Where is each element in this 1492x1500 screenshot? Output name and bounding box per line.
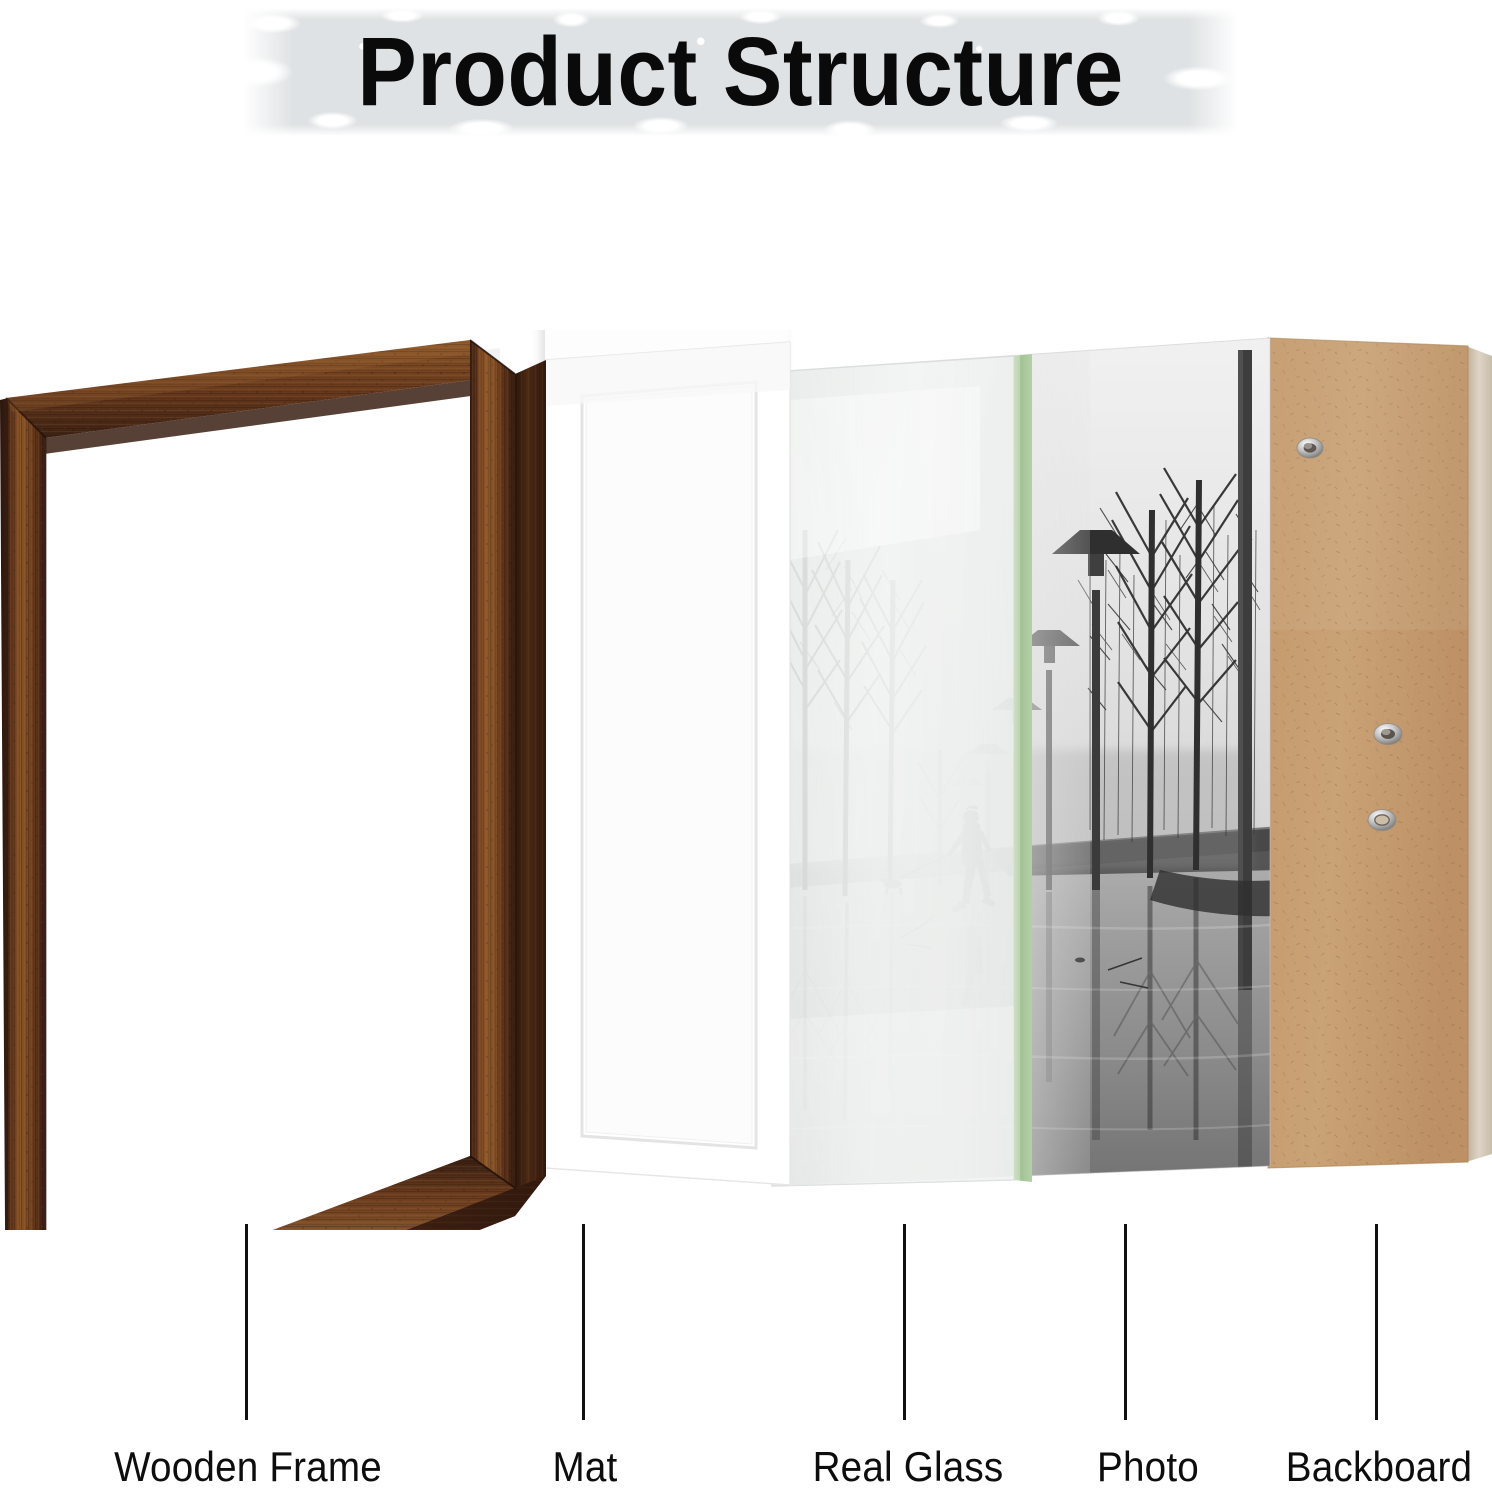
backboard-grommet-3 [1368, 810, 1396, 831]
leader-line-mat [582, 1224, 585, 1420]
leader-line-real-glass [903, 1224, 906, 1420]
mat-board [545, 342, 790, 1185]
title-banner: Product Structure [243, 8, 1238, 136]
page-title: Product Structure [283, 8, 1198, 136]
exploded-product-diagram [0, 330, 1492, 1230]
backboard-grommet-2 [1374, 724, 1402, 745]
part-label-photo: Photo [1097, 1443, 1199, 1491]
wooden-frame-layer [0, 340, 546, 1230]
part-label-wooden-frame: Wooden Frame [114, 1443, 382, 1491]
leader-line-wooden-frame [245, 1224, 248, 1420]
part-label-mat: Mat [553, 1443, 618, 1491]
backboard-grommet-1 [1297, 438, 1323, 458]
part-label-real-glass: Real Glass [813, 1443, 1004, 1491]
leader-line-backboard [1375, 1224, 1378, 1420]
leader-line-photo [1124, 1224, 1127, 1420]
backboard-layer [1268, 338, 1492, 1168]
part-label-backboard: Backboard [1286, 1443, 1472, 1491]
glass-layer [772, 354, 1032, 1186]
